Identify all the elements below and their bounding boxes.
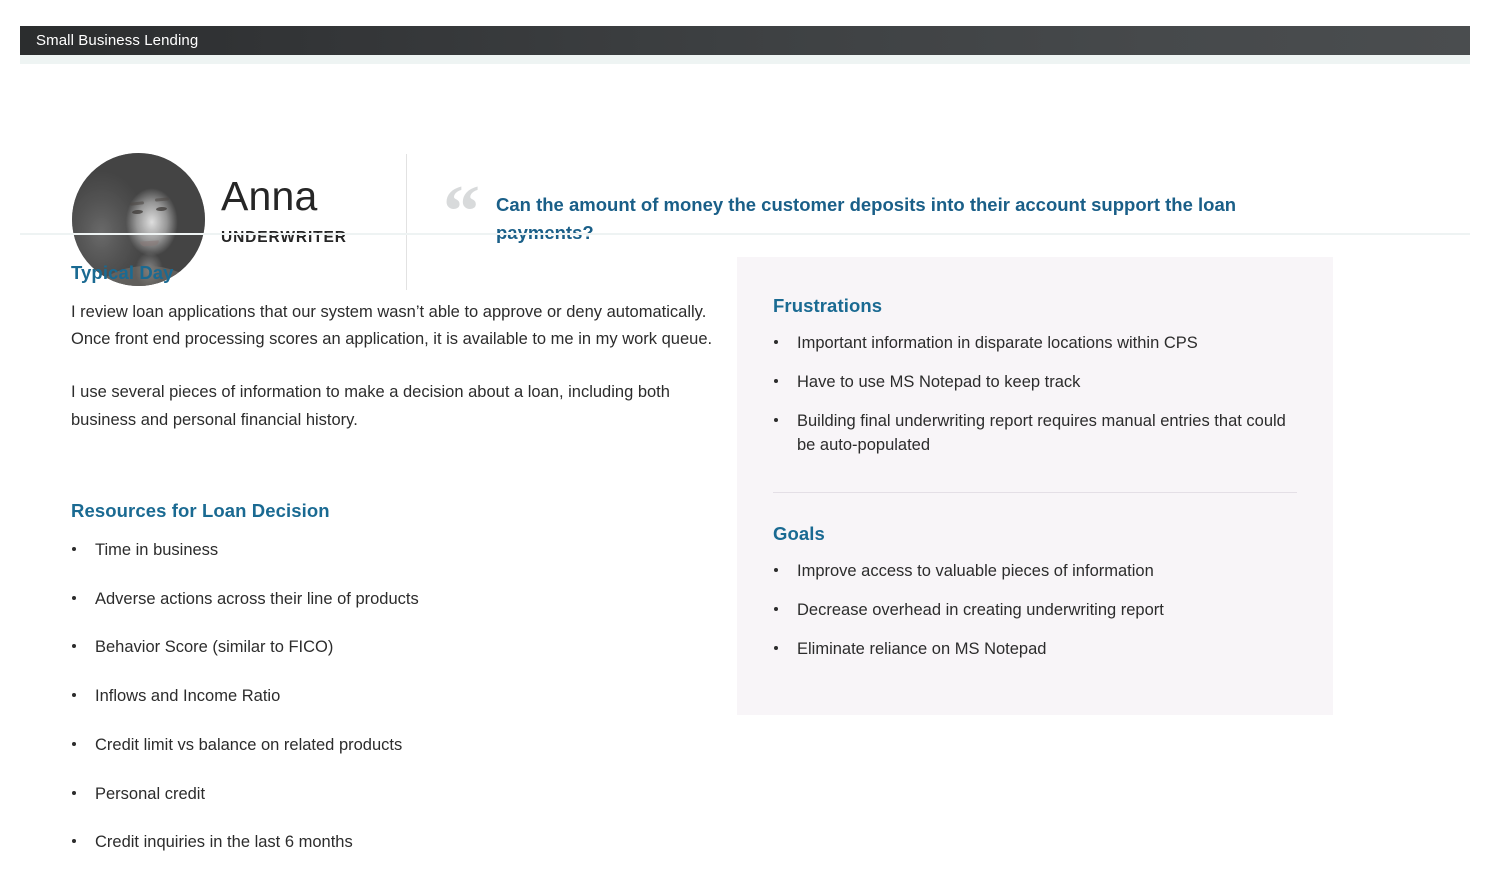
left-column: Typical Day I review loan applications t…: [71, 262, 721, 879]
frustrations-list-item: Important information in disparate locat…: [773, 331, 1297, 356]
goals-list-item-label: Improve access to valuable pieces of inf…: [797, 562, 1154, 580]
persona-quote-text: Can the amount of money the customer dep…: [496, 184, 1296, 247]
typical-day-heading: Typical Day: [71, 262, 721, 284]
bullet-dot-icon: [72, 693, 76, 697]
resources-heading: Resources for Loan Decision: [71, 500, 721, 522]
goals-list-item: Decrease overhead in creating underwriti…: [773, 598, 1297, 623]
app-titlebar: Small Business Lending: [20, 26, 1470, 55]
titlebar-underband: [20, 55, 1470, 64]
bullet-dot-icon: [774, 607, 778, 611]
persona-quote-block: “ Can the amount of money the customer d…: [443, 184, 1323, 247]
resources-list-item-label: Credit inquiries in the last 6 months: [95, 833, 353, 851]
panel-divider: [773, 492, 1297, 493]
resources-list-item: Credit limit vs balance on related produ…: [71, 733, 721, 758]
frustrations-list-item: Have to use MS Notepad to keep track: [773, 370, 1297, 395]
resources-list: Time in businessAdverse actions across t…: [71, 538, 721, 855]
resources-list-item: Inflows and Income Ratio: [71, 684, 721, 709]
bullet-dot-icon: [774, 646, 778, 650]
goals-heading: Goals: [773, 523, 1297, 545]
resources-list-item-label: Inflows and Income Ratio: [95, 687, 280, 705]
typical-day-paragraph-1: I review loan applications that our syst…: [71, 299, 716, 353]
persona-name: Anna: [221, 176, 347, 217]
bullet-dot-icon: [72, 742, 76, 746]
quote-mark-icon: “: [443, 186, 480, 239]
resources-list-item: Adverse actions across their line of pro…: [71, 587, 721, 612]
frustrations-list-item-label: Important information in disparate locat…: [797, 334, 1198, 352]
bullet-dot-icon: [774, 379, 778, 383]
persona-role: UNDERWRITER: [221, 229, 347, 247]
goals-list: Improve access to valuable pieces of inf…: [773, 559, 1297, 661]
bullet-dot-icon: [72, 791, 76, 795]
resources-list-item-label: Credit limit vs balance on related produ…: [95, 736, 402, 754]
bullet-dot-icon: [72, 547, 76, 551]
persona-header: Anna UNDERWRITER “ Can the amount of mon…: [0, 72, 1500, 227]
frustrations-heading: Frustrations: [773, 295, 1297, 317]
goals-list-item: Eliminate reliance on MS Notepad: [773, 637, 1297, 662]
goals-list-item: Improve access to valuable pieces of inf…: [773, 559, 1297, 584]
goals-list-item-label: Eliminate reliance on MS Notepad: [797, 640, 1046, 658]
frustrations-list: Important information in disparate locat…: [773, 331, 1297, 458]
frustrations-list-item-label: Building final underwriting report requi…: [797, 412, 1286, 455]
bullet-dot-icon: [72, 644, 76, 648]
right-panel: Frustrations Important information in di…: [737, 257, 1333, 715]
bullet-dot-icon: [72, 596, 76, 600]
bullet-dot-icon: [774, 340, 778, 344]
bullet-dot-icon: [72, 839, 76, 843]
bullet-dot-icon: [774, 568, 778, 572]
bullet-dot-icon: [774, 418, 778, 422]
frustrations-list-item-label: Have to use MS Notepad to keep track: [797, 373, 1080, 391]
resources-list-item-label: Personal credit: [95, 785, 205, 803]
resources-list-item-label: Adverse actions across their line of pro…: [95, 590, 419, 608]
resources-list-item: Time in business: [71, 538, 721, 563]
persona-identity: Anna UNDERWRITER: [221, 176, 347, 247]
resources-list-item-label: Behavior Score (similar to FICO): [95, 638, 333, 656]
resources-list-item: Behavior Score (similar to FICO): [71, 635, 721, 660]
resources-list-item-label: Time in business: [95, 541, 218, 559]
app-title: Small Business Lending: [20, 32, 198, 49]
resources-list-item: Personal credit: [71, 782, 721, 807]
horizontal-divider: [20, 233, 1470, 235]
goals-list-item-label: Decrease overhead in creating underwriti…: [797, 601, 1164, 619]
resources-list-item: Credit inquiries in the last 6 months: [71, 830, 721, 855]
frustrations-list-item: Building final underwriting report requi…: [773, 409, 1297, 459]
typical-day-paragraph-2: I use several pieces of information to m…: [71, 379, 716, 433]
